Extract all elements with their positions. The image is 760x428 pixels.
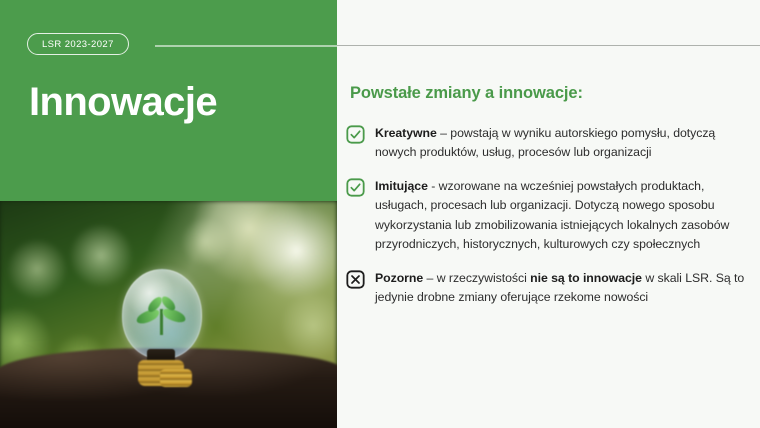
bullet-list: Kreatywne – powstają w wyniku autorskieg… xyxy=(346,124,752,307)
photo-coin-stack xyxy=(160,369,192,387)
list-item-text: Imitujące - wzorowane na wcześniej powst… xyxy=(375,177,752,255)
badge-lsr-period: LSR 2023-2027 xyxy=(27,33,129,55)
green-title-panel: LSR 2023-2027 Innowacje xyxy=(0,0,337,201)
list-item-lead: Pozorne xyxy=(375,271,423,285)
list-item-emphasis: nie są to innowacje xyxy=(530,271,642,285)
slide-root: LSR 2023-2027 Innowacje Powstałe zmian xyxy=(0,0,760,428)
list-item-separator: - xyxy=(428,179,439,193)
list-item-text: Pozorne – w rzeczywistości nie są to inn… xyxy=(375,269,752,308)
list-item-text: Kreatywne – powstają w wyniku autorskieg… xyxy=(375,124,752,163)
right-content-panel: Powstałe zmiany a innowacje: Kreatywne –… xyxy=(337,0,760,428)
page-title: Innowacje xyxy=(29,80,217,124)
list-item-body: w rzeczywistości xyxy=(437,271,530,285)
list-item-separator: – xyxy=(423,271,437,285)
badge-label: LSR 2023-2027 xyxy=(42,39,114,50)
photo-sprout xyxy=(138,297,186,333)
check-square-icon xyxy=(346,125,365,144)
list-item: Pozorne – w rzeczywistości nie są to inn… xyxy=(346,269,752,308)
header-rule-grey xyxy=(337,45,760,46)
list-item: Kreatywne – powstają w wyniku autorskieg… xyxy=(346,124,752,163)
section-heading: Powstałe zmiany a innowacje: xyxy=(350,84,583,103)
list-item-lead: Imitujące xyxy=(375,179,428,193)
list-item: Imitujące - wzorowane na wcześniej powst… xyxy=(346,177,752,255)
left-column: LSR 2023-2027 Innowacje xyxy=(0,0,337,428)
photo-lightbulb-plant xyxy=(0,201,337,428)
list-item-lead: Kreatywne xyxy=(375,126,437,140)
list-item-separator: – xyxy=(437,126,451,140)
check-square-icon xyxy=(346,178,365,197)
cross-square-icon xyxy=(346,270,365,289)
header-rule-green xyxy=(155,45,337,47)
